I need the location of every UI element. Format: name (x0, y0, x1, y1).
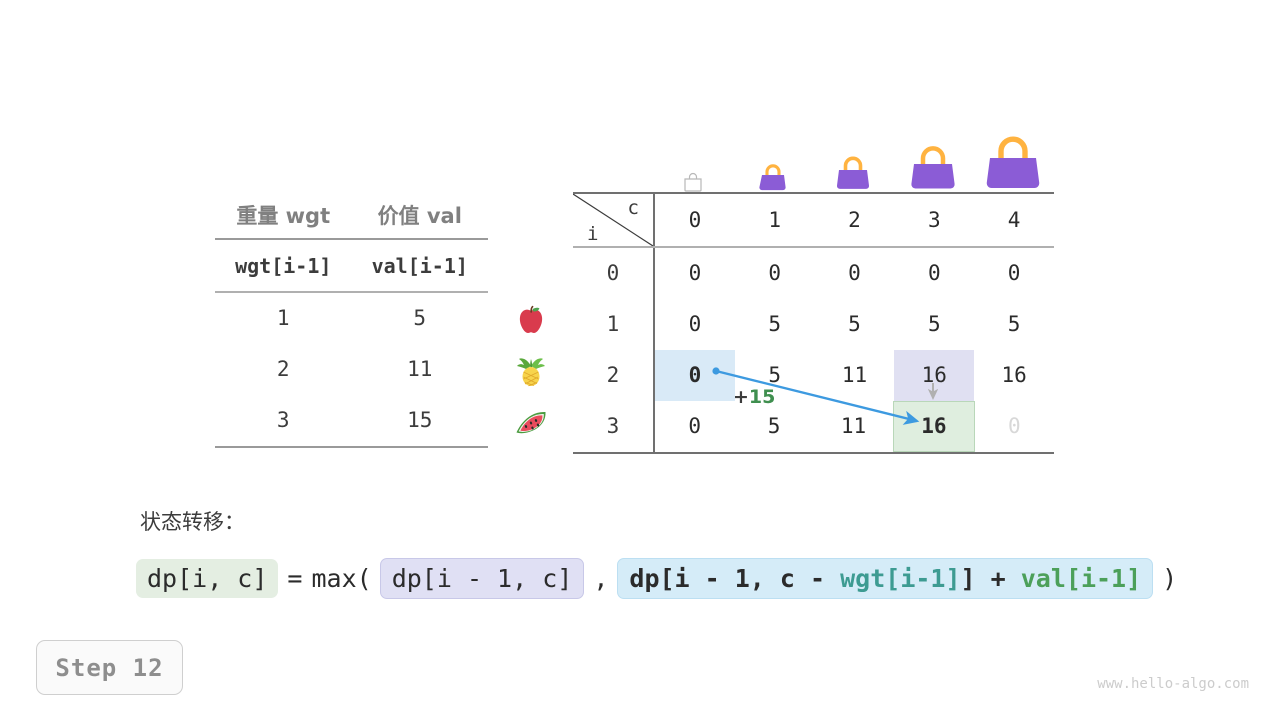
divider (573, 452, 1054, 454)
dp-cell-0-2: 0 (815, 248, 895, 299)
cell-weight-1: 1 (215, 306, 352, 330)
dp-row-label-2: 2 (573, 363, 653, 387)
subheader-val-index: val[i-1] (352, 254, 489, 278)
dp-cell-1-1: 5 (735, 299, 815, 350)
formula-option-b-val: val[i-1] (1021, 564, 1141, 593)
dp-row-label-3: 3 (573, 414, 653, 438)
dp-row-1: 1 0 5 5 5 5 (573, 299, 1054, 350)
dp-col-header-1: 1 (735, 194, 815, 246)
dp-col-header-0: 0 (655, 194, 735, 246)
state-transition-formula: dp[i, c] = max( dp[i - 1, c] , dp[i - 1,… (136, 558, 1186, 599)
table-row: 2 11 (215, 344, 488, 395)
dp-cell-0-0: 0 (655, 248, 735, 299)
cell-value-1: 5 (352, 306, 489, 330)
dp-row-axis-label: i (587, 223, 598, 245)
dp-col-header-4: 4 (974, 194, 1054, 246)
bag-icon-capacity-1 (733, 122, 813, 192)
table-subheader-row: wgt[i-1] val[i-1] (215, 240, 488, 291)
dp-table: c i 0 1 2 3 4 0 0 0 0 0 0 1 0 5 5 5 5 (573, 192, 1054, 454)
weight-value-table: 重量 wgt 价值 val wgt[i-1] val[i-1] 1 5 2 11… (215, 192, 488, 448)
formula-option-b-wgt: wgt[i-1] (840, 564, 960, 593)
cell-weight-2: 2 (215, 357, 352, 381)
column-header-value: 价值 val (352, 200, 489, 230)
value-increment-label: +15 (733, 386, 775, 408)
formula-option-b-prefix: dp[i - 1, c - (629, 564, 840, 593)
dp-header-row: c i 0 1 2 3 4 (573, 194, 1054, 246)
dp-row-cells: 0 5 11 16 0 (653, 401, 1054, 452)
formula-equals: = (278, 564, 311, 593)
formula-close-paren: ) (1153, 564, 1186, 593)
dp-cell-3-4: 0 (975, 401, 1054, 452)
pineapple-icon (508, 345, 554, 396)
dp-row-2: 2 0 5 11 16 16 (573, 350, 1054, 401)
dp-cell-2-0: 0 (655, 350, 735, 401)
dp-cell-0-1: 0 (735, 248, 815, 299)
formula-max-open: max( (311, 564, 371, 593)
dp-col-header-3: 3 (894, 194, 974, 246)
knapsack-capacity-icons (653, 122, 1053, 192)
dp-cell-3-3: 16 (893, 401, 974, 452)
diagonal-divider-icon (573, 194, 653, 246)
apple-icon (508, 294, 554, 345)
plus-sign: + (733, 386, 749, 408)
dp-cell-3-2: 11 (814, 401, 893, 452)
table-row: 1 5 (215, 293, 488, 344)
cell-weight-3: 3 (215, 408, 352, 432)
dp-row-cells: 0 5 11 16 16 (653, 350, 1054, 401)
dp-cell-3-1: 5 (734, 401, 813, 452)
column-header-weight: 重量 wgt (215, 200, 352, 230)
formula-comma: , (584, 564, 617, 593)
step-badge: Step 12 (36, 640, 183, 695)
dp-row-label-1: 1 (573, 312, 653, 336)
dp-row-label-0: 0 (573, 261, 653, 285)
dp-cell-0-3: 0 (894, 248, 974, 299)
formula-option-b: dp[i - 1, c - wgt[i-1]] + val[i-1] (617, 558, 1153, 599)
dp-row-cells: 0 0 0 0 0 (653, 248, 1054, 299)
cell-value-2: 11 (352, 357, 489, 381)
dp-corner-cell: c i (573, 194, 653, 246)
dp-header-cells: 0 1 2 3 4 (653, 194, 1054, 246)
dp-row-3: 3 0 5 11 16 0 (573, 401, 1054, 452)
bag-icon-capacity-2 (813, 122, 893, 192)
bag-icon-capacity-3 (893, 122, 973, 192)
formula-target: dp[i, c] (136, 559, 278, 598)
plus-value: 15 (749, 386, 775, 408)
table-row: 3 15 (215, 395, 488, 446)
dp-row-cells: 0 5 5 5 5 (653, 299, 1054, 350)
bag-icon-capacity-4 (973, 122, 1053, 192)
state-transition-label: 状态转移： (140, 506, 245, 536)
watermark: www.hello-algo.com (1097, 676, 1249, 692)
bag-icon-capacity-0 (653, 122, 733, 192)
dp-cell-1-2: 5 (815, 299, 895, 350)
dp-row-0: 0 0 0 0 0 0 (573, 248, 1054, 299)
dp-cell-1-0: 0 (655, 299, 735, 350)
table-header-row: 重量 wgt 价值 val (215, 192, 488, 238)
dp-cell-3-0: 0 (655, 401, 734, 452)
dp-cell-2-3: 16 (894, 350, 974, 401)
dp-cell-2-2: 11 (815, 350, 895, 401)
dp-cell-1-4: 5 (974, 299, 1054, 350)
fruit-icon-column (508, 294, 554, 447)
dp-col-axis-label: c (628, 197, 639, 219)
watermelon-icon (508, 396, 554, 447)
dp-cell-1-3: 5 (894, 299, 974, 350)
dp-cell-2-4: 16 (974, 350, 1054, 401)
subheader-wgt-index: wgt[i-1] (215, 254, 352, 278)
formula-option-b-mid: ] + (961, 564, 1021, 593)
divider (215, 446, 488, 448)
formula-option-a: dp[i - 1, c] (380, 558, 585, 599)
dp-col-header-2: 2 (815, 194, 895, 246)
cell-value-3: 15 (352, 408, 489, 432)
dp-cell-0-4: 0 (974, 248, 1054, 299)
